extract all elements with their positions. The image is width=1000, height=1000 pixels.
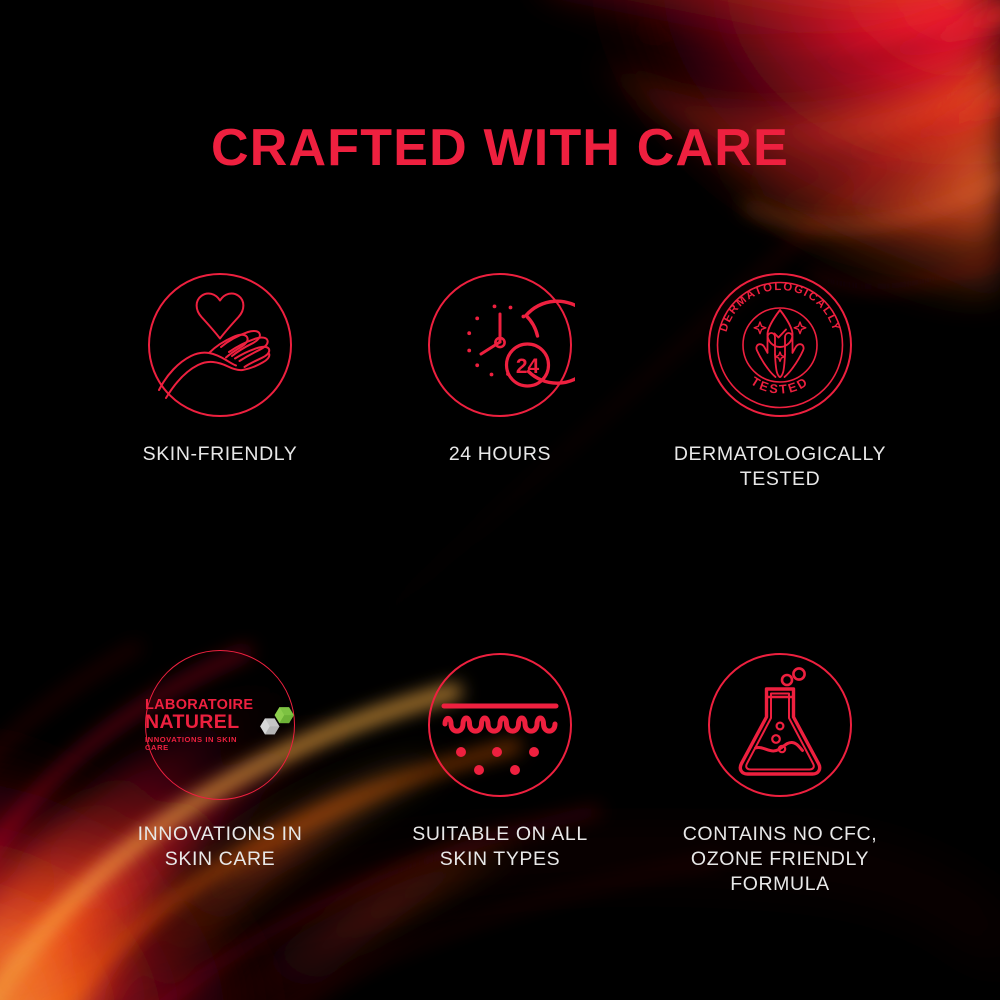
feature-label: DERMATOLOGICALLY TESTED bbox=[674, 442, 886, 492]
feature-innovations-in-skin-care: LABORATOIRE NATUREL INNOVATIONS IN SKIN … bbox=[80, 650, 360, 897]
feature-no-cfc-ozone-friendly: CONTAINS NO CFC, OZONE FRIENDLY FORMULA bbox=[640, 650, 920, 897]
logo-text-block: LABORATOIRE NATUREL INNOVATIONS IN SKIN … bbox=[145, 698, 254, 752]
feature-24-hours: 24 24 HOURS bbox=[360, 270, 640, 492]
feature-skin-friendly: SKIN-FRIENDLY bbox=[80, 270, 360, 492]
dermatologically-tested-badge-icon: DERMATOLOGICALLY TESTED bbox=[705, 270, 855, 420]
logo-line-tagline: INNOVATIONS IN SKIN CARE bbox=[145, 737, 254, 752]
feature-label: SUITABLE ON ALL SKIN TYPES bbox=[412, 822, 588, 872]
feature-dermatologically-tested: DERMATOLOGICALLY TESTED DERMATOLOGICALLY… bbox=[640, 270, 920, 492]
skin-layers-icon bbox=[425, 650, 575, 800]
hand-holding-heart-icon bbox=[145, 270, 295, 420]
feature-label: SKIN-FRIENDLY bbox=[143, 442, 298, 467]
hexagon-cubes-icon bbox=[257, 702, 295, 744]
logo-line-naturel: NATUREL bbox=[145, 713, 240, 733]
feature-suitable-all-skin-types: SUITABLE ON ALL SKIN TYPES bbox=[360, 650, 640, 897]
clock-24-hours-icon: 24 bbox=[425, 270, 575, 420]
logo-inner: LABORATOIRE NATUREL INNOVATIONS IN SKIN … bbox=[145, 698, 295, 752]
page-title: CRAFTED WITH CARE bbox=[0, 118, 1000, 178]
feature-label: CONTAINS NO CFC, OZONE FRIENDLY FORMULA bbox=[640, 822, 920, 897]
feature-label: INNOVATIONS IN SKIN CARE bbox=[138, 822, 303, 872]
content-area: CRAFTED WITH CARE bbox=[0, 0, 1000, 1000]
crafted-with-care-infographic: CRAFTED WITH CARE bbox=[0, 0, 1000, 1000]
logo-line-laboratoire: LABORATOIRE bbox=[145, 698, 253, 713]
clock-badge-number: 24 bbox=[516, 355, 540, 378]
laboratory-flask-icon bbox=[705, 650, 855, 800]
laboratoire-naturel-logo-icon: LABORATOIRE NATUREL INNOVATIONS IN SKIN … bbox=[145, 650, 295, 800]
feature-label: 24 HOURS bbox=[449, 442, 551, 467]
features-grid: SKIN-FRIENDLY bbox=[80, 270, 920, 897]
